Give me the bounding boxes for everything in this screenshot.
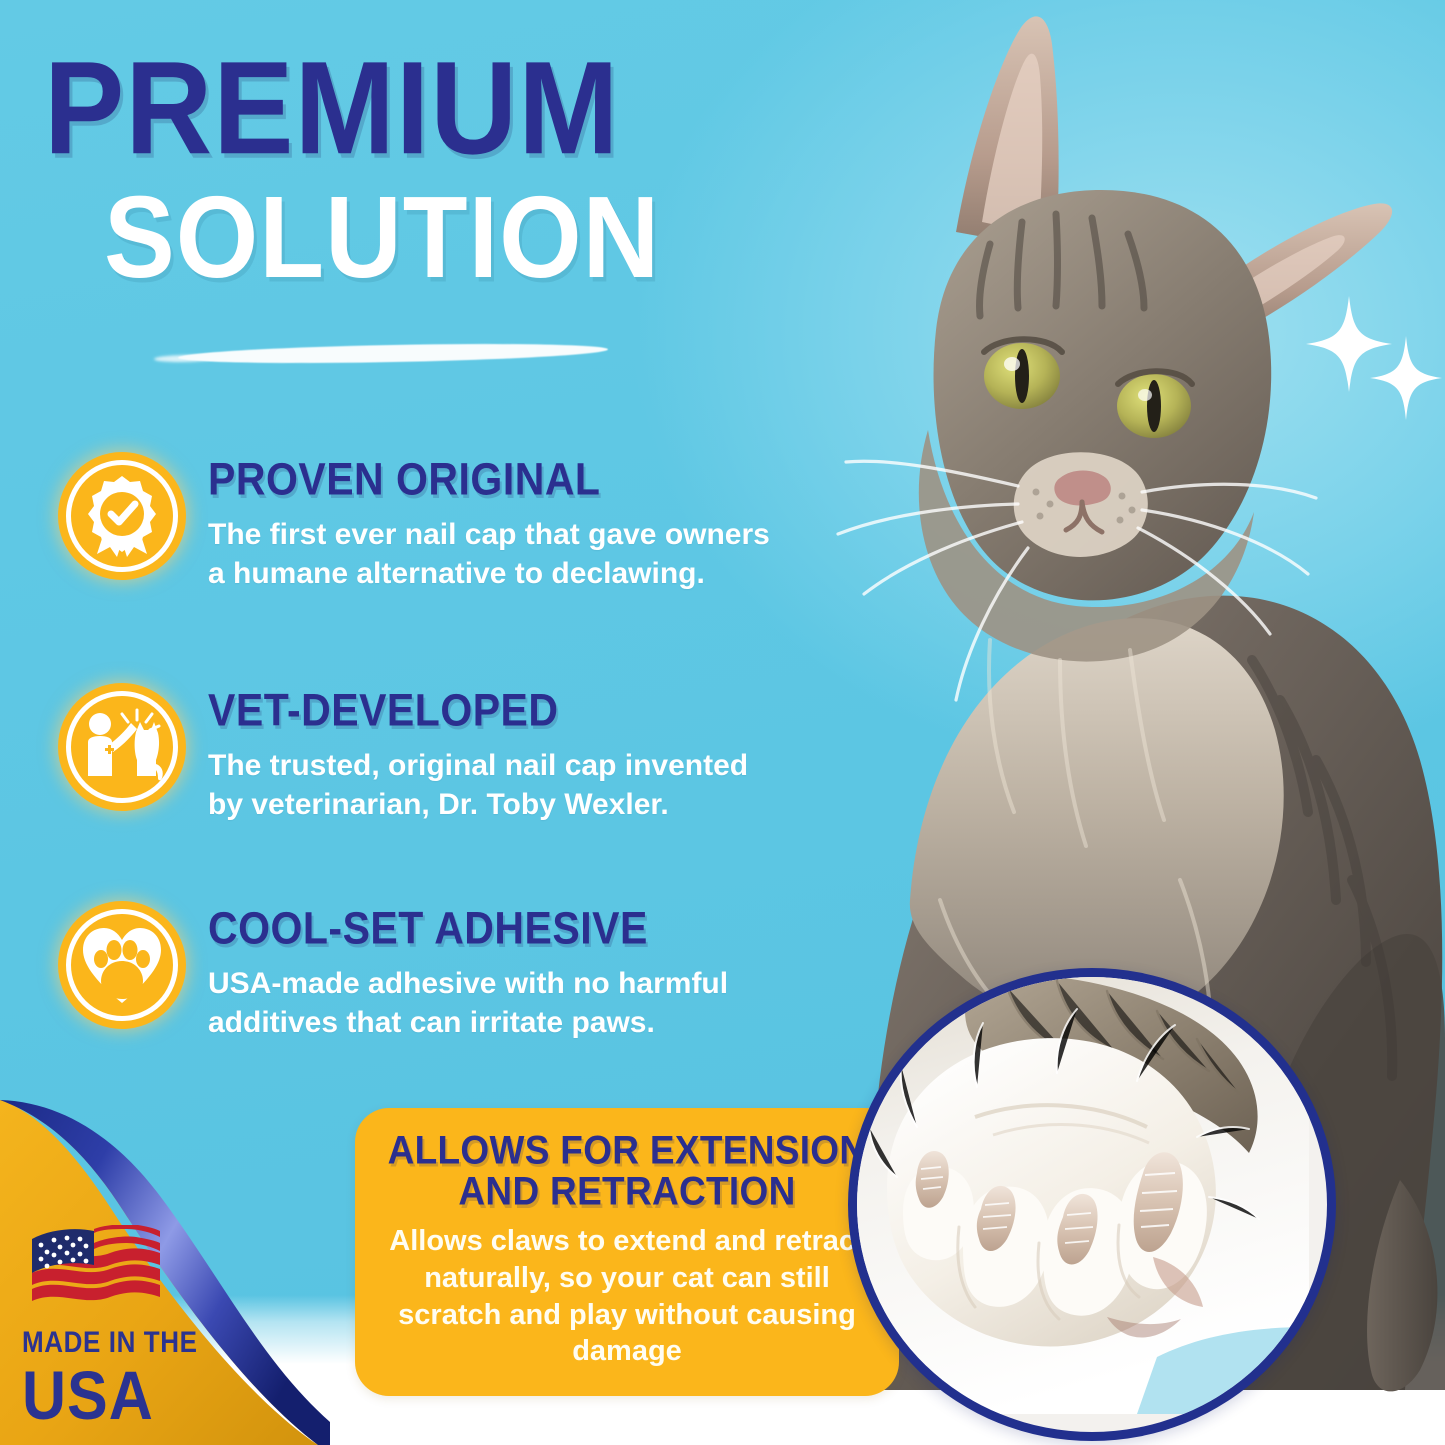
made-in-usa-text: MADE IN THE USA <box>22 1329 198 1427</box>
headline-block: PREMIUM SOLUTION <box>44 48 824 280</box>
feature-body: The first ever nail cap that gave owners… <box>208 515 778 593</box>
feature-text-block: VET-DEVELOPED The trusted, original nail… <box>208 683 788 824</box>
heart-paw-print-icon <box>58 901 186 1029</box>
feature-row-proven-original: PROVEN ORIGINAL The first ever nail cap … <box>58 452 858 593</box>
feature-row-vet-developed: VET-DEVELOPED The trusted, original nail… <box>58 683 858 824</box>
feature-title: VET-DEVELOPED <box>208 685 788 737</box>
callout-title: ALLOWS FOR EXTENSION AND RETRACTION <box>377 1130 877 1212</box>
feature-text-block: COOL-SET ADHESIVE USA-made adhesive with… <box>208 901 778 1042</box>
feature-title: COOL-SET ADHESIVE <box>208 903 778 955</box>
feature-body: USA-made adhesive with no harmful additi… <box>208 964 778 1042</box>
headline-line-2: SOLUTION <box>104 185 838 292</box>
made-in-usa-corner-peel: MADE IN THE USA <box>0 1100 330 1445</box>
feature-title: PROVEN ORIGINAL <box>208 454 778 506</box>
feature-row-cool-set-adhesive: COOL-SET ADHESIVE USA-made adhesive with… <box>58 901 858 1042</box>
feature-body: The trusted, original nail cap invented … <box>208 746 788 824</box>
headline-line-1: PREMIUM <box>44 48 840 170</box>
cat-paw-with-nail-caps-closeup <box>848 968 1336 1441</box>
veterinarian-high-five-cat-icon <box>58 683 186 811</box>
award-ribbon-check-icon <box>58 452 186 580</box>
product-feature-poster: PREMIUM SOLUTION PROVEN ORIGINAL The fir… <box>0 0 1445 1445</box>
made-in-usa-line-2: USA <box>22 1366 198 1427</box>
feature-text-block: PROVEN ORIGINAL The first ever nail cap … <box>208 452 778 593</box>
callout-title-line-1: ALLOWS FOR EXTENSION <box>377 1130 877 1171</box>
american-flag-icon <box>32 1225 160 1305</box>
callout-title-line-2: AND RETRACTION <box>377 1171 877 1212</box>
callout-body: Allows claws to extend and retract natur… <box>377 1223 877 1369</box>
made-in-usa-line-1: MADE IN THE <box>22 1324 198 1360</box>
callout-extension-retraction: ALLOWS FOR EXTENSION AND RETRACTION Allo… <box>355 1108 899 1396</box>
